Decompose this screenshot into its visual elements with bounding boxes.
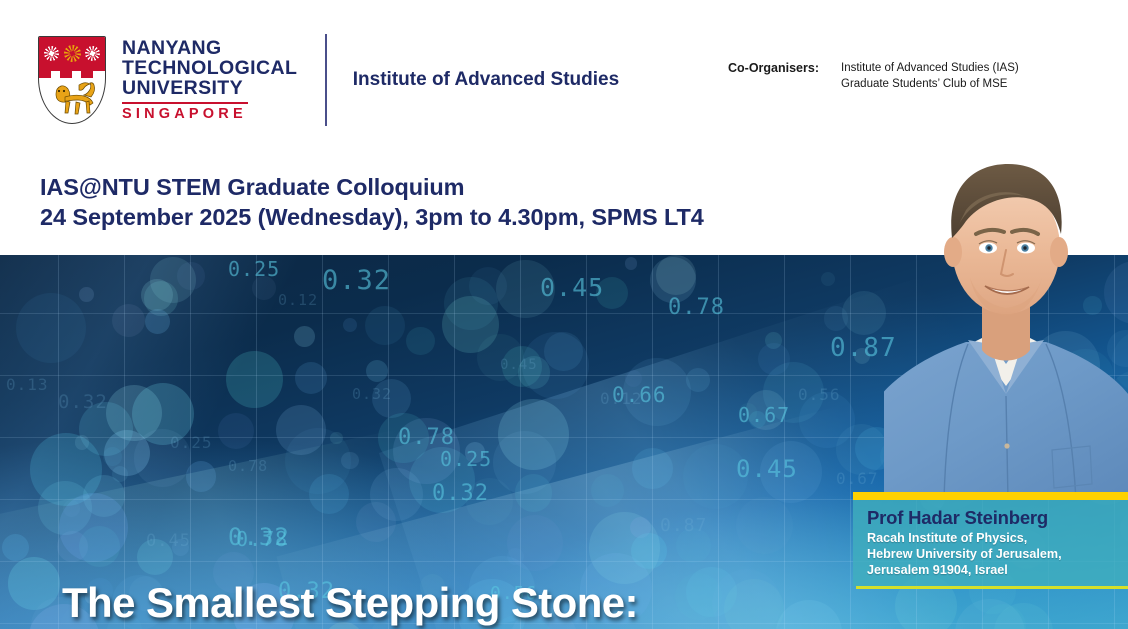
background-number: 0.32 <box>58 391 108 413</box>
poster-root: 0.250.320.450.780.870.660.670.450.780.32… <box>0 0 1128 629</box>
lion-icon <box>48 77 98 117</box>
co-organiser-item: Graduate Students’ Club of MSE <box>841 76 1019 92</box>
speaker-info-panel: Prof Hadar Steinberg Racah Institute of … <box>853 492 1128 594</box>
co-organiser-item: Institute of Advanced Studies (IAS) <box>841 60 1019 76</box>
background-number: 0.25 <box>170 433 213 452</box>
event-heading: IAS@NTU STEM Graduate Colloquium 24 Sept… <box>40 172 704 232</box>
affiliation-line: Racah Institute of Physics, <box>867 531 1128 547</box>
ntu-wordmark: NANYANG TECHNOLOGICAL UNIVERSITY SINGAPO… <box>122 38 297 123</box>
background-number: 0.12 <box>278 291 318 309</box>
background-number: 0.78 <box>668 295 725 320</box>
wordmark-line-1: NANYANG <box>122 38 297 58</box>
speaker-photo <box>884 128 1128 500</box>
speaker-affiliation: Racah Institute of Physics, Hebrew Unive… <box>867 531 1128 579</box>
co-organisers-list: Institute of Advanced Studies (IAS) Grad… <box>841 60 1019 93</box>
background-number: 0.12 <box>600 389 643 408</box>
co-organisers-block: Co-Organisers: Institute of Advanced Stu… <box>728 60 1019 93</box>
affiliation-line: Hebrew University of Jerusalem, <box>867 547 1128 563</box>
background-number: 0.32 <box>432 481 489 506</box>
background-number: 0.32 <box>322 265 391 296</box>
co-organisers-label: Co-Organisers: <box>728 60 819 75</box>
background-number: 0.45 <box>736 455 798 483</box>
event-title-line: IAS@NTU STEM Graduate Colloquium <box>40 172 704 202</box>
background-number: 0.45 <box>500 357 538 373</box>
wordmark-country: SINGAPORE <box>122 107 297 122</box>
wordmark-line-3: UNIVERSITY <box>122 78 297 98</box>
logo-vertical-divider <box>325 34 327 126</box>
background-number: 0.45 <box>146 531 191 551</box>
title-line-1: The Smallest Stepping Stone: <box>62 580 638 626</box>
wordmark-line-2: TECHNOLOGICAL <box>122 58 297 78</box>
background-number: 0.32 <box>352 385 392 403</box>
panel-bottom-accent-rule <box>856 586 1128 589</box>
background-number: 0.78 <box>228 457 268 475</box>
background-number: 0.56 <box>798 385 841 404</box>
background-number: 0.25 <box>228 257 280 281</box>
speaker-name: Prof Hadar Steinberg <box>867 507 1128 529</box>
background-number: 0.67 <box>836 469 879 488</box>
institute-name: Institute of Advanced Studies <box>353 69 619 91</box>
ntu-crest-icon <box>38 36 106 124</box>
background-number: 0.45 <box>540 273 604 302</box>
talk-title: The Smallest Stepping Stone: Quantum Dot… <box>62 580 638 629</box>
background-number: 0.78 <box>236 527 288 551</box>
affiliation-line: Jerusalem 91904, Israel <box>867 563 1128 579</box>
panel-body: Prof Hadar Steinberg Racah Institute of … <box>853 500 1128 586</box>
background-number: 0.67 <box>738 403 790 427</box>
wordmark-divider-rule <box>122 102 248 104</box>
background-number: 0.25 <box>440 447 492 471</box>
background-number: 0.87 <box>660 515 707 536</box>
panel-top-accent-bar <box>853 492 1128 500</box>
speaker-portrait-image <box>884 128 1128 500</box>
background-number: 0.13 <box>6 375 49 394</box>
ntu-logo-lockup: NANYANG TECHNOLOGICAL UNIVERSITY SINGAPO… <box>38 30 619 130</box>
event-datetime-line: 24 September 2025 (Wednesday), 3pm to 4.… <box>40 202 704 232</box>
